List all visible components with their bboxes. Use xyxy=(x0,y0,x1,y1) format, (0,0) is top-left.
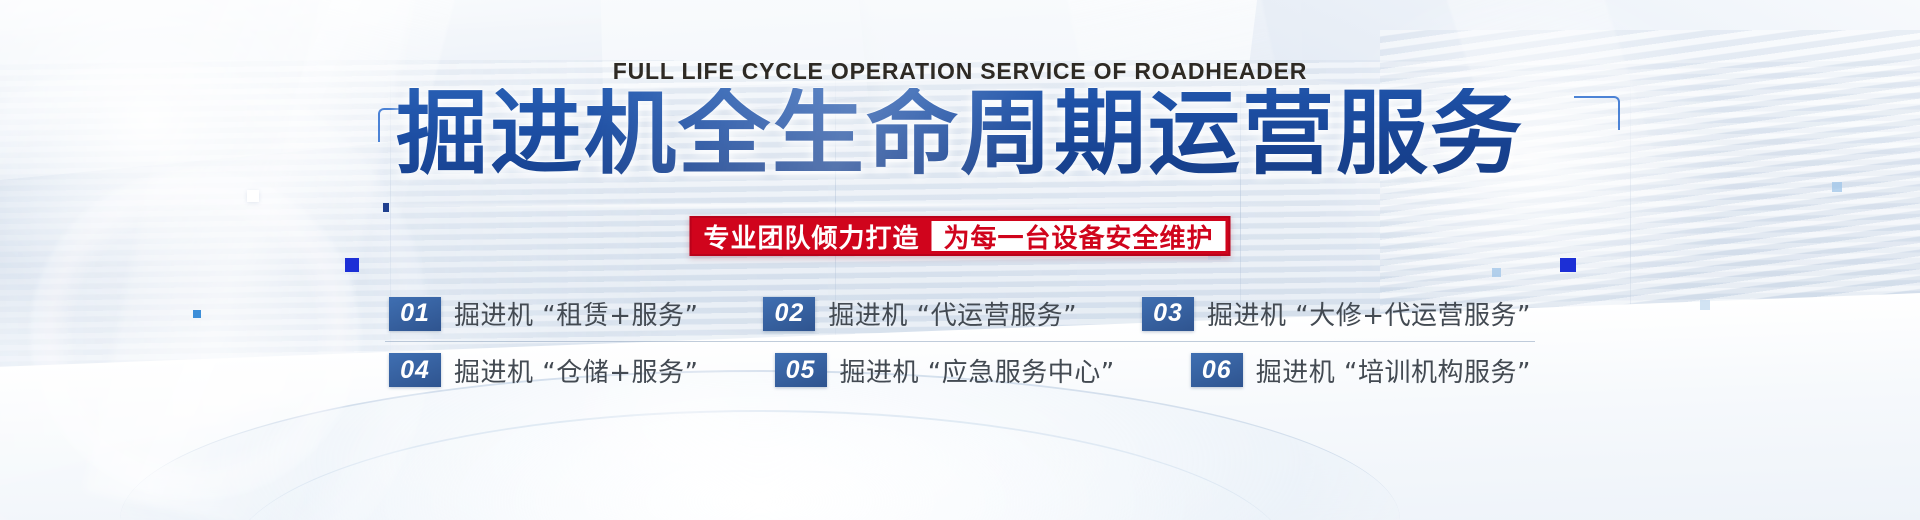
service-item-label: 掘进机 “大修+代运营服务” xyxy=(1207,295,1531,332)
promo-banner: FULL LIFE CYCLE OPERATION SERVICE OF ROA… xyxy=(0,0,1920,520)
service-row-top: 01 掘进机 “租赁+服务” 02 掘进机 “代运营服务” 03 掘进机 “大修… xyxy=(385,286,1535,342)
service-number-badge: 06 xyxy=(1191,353,1243,387)
service-item-03[interactable]: 03 掘进机 “大修+代运营服务” xyxy=(1142,295,1531,332)
service-item-04[interactable]: 04 掘进机 “仓储+服务” xyxy=(389,352,699,389)
ribbon-slogan-secondary: 为每一台设备安全维护 xyxy=(932,221,1226,251)
service-item-01[interactable]: 01 掘进机 “租赁+服务” xyxy=(389,295,699,332)
service-item-label: 掘进机 “租赁+服务” xyxy=(454,295,699,332)
ribbon-slogan-primary: 专业团队倾力打造 xyxy=(691,218,931,254)
service-number-badge: 03 xyxy=(1142,297,1194,331)
banner-content: FULL LIFE CYCLE OPERATION SERVICE OF ROA… xyxy=(0,0,1920,520)
service-item-label: 掘进机 “仓储+服务” xyxy=(454,352,699,389)
service-item-02[interactable]: 02 掘进机 “代运营服务” xyxy=(763,295,1077,332)
service-item-06[interactable]: 06 掘进机 “培训机构服务” xyxy=(1191,352,1531,389)
page-title: 掘进机全生命周期运营服务 xyxy=(0,88,1920,180)
service-number-badge: 04 xyxy=(389,353,441,387)
service-item-05[interactable]: 05 掘进机 “应急服务中心” xyxy=(775,352,1115,389)
service-item-label: 掘进机 “培训机构服务” xyxy=(1256,352,1531,389)
service-row-bottom: 04 掘进机 “仓储+服务” 05 掘进机 “应急服务中心” 06 掘进机 “培… xyxy=(385,342,1535,398)
service-item-label: 掘进机 “代运营服务” xyxy=(828,295,1077,332)
service-list: 01 掘进机 “租赁+服务” 02 掘进机 “代运营服务” 03 掘进机 “大修… xyxy=(385,286,1535,398)
ribbon-slogan: 专业团队倾力打造 为每一台设备安全维护 xyxy=(689,216,1230,256)
service-number-badge: 01 xyxy=(389,297,441,331)
service-item-label: 掘进机 “应急服务中心” xyxy=(840,352,1115,389)
service-number-badge: 05 xyxy=(775,353,827,387)
service-number-badge: 02 xyxy=(763,297,815,331)
